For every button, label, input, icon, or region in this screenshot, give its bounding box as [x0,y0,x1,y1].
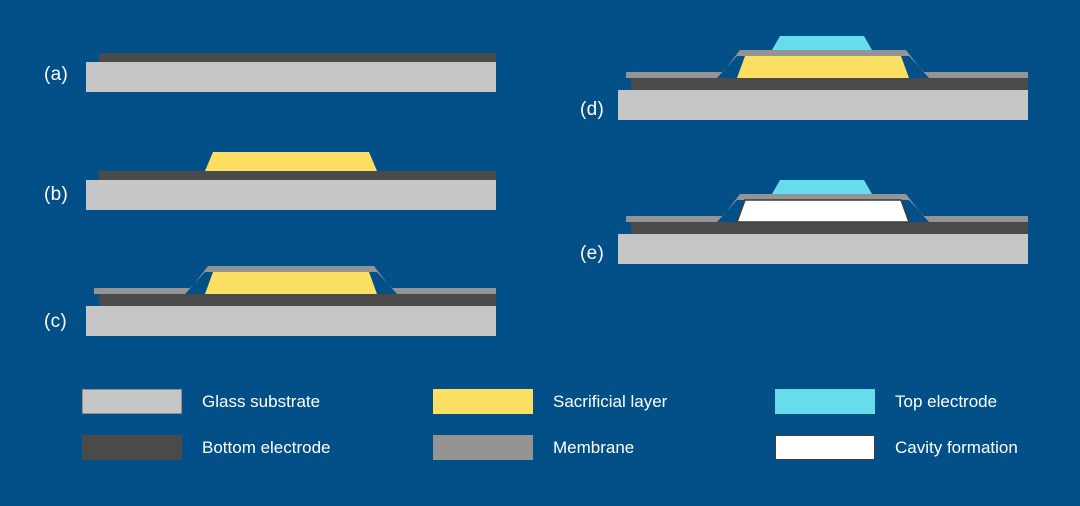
legend-swatch-top-electrode [775,389,875,414]
legend-item-sacrificial-layer: Sacrificial layer [433,378,753,424]
panel-label-a: (a) [44,65,68,84]
process-flow-figure: (a)(b)(c)(d)(e) Glass substrateBottom el… [0,0,1080,506]
layer-top-electrode [772,36,872,50]
panel-label-d: (d) [580,100,604,119]
legend-column-3: Top electrodeCavity formation [775,378,1080,470]
legend-column-1: Glass substrateBottom electrode [82,378,402,470]
legend-label-top-electrode: Top electrode [895,393,997,410]
legend-swatch-membrane [433,435,533,460]
panel-label-c: (c) [44,312,67,331]
cross-section-d [612,30,1042,125]
legend-item-top-electrode: Top electrode [775,378,1080,424]
legend-item-membrane: Membrane [433,424,753,470]
cross-section-a [80,40,510,100]
legend-item-cavity-formation: Cavity formation [775,424,1080,470]
legend-swatch-cavity-formation [775,435,875,460]
layer-bottom-electrode [99,171,496,180]
cross-section-c [80,258,510,336]
legend-column-2: Sacrificial layerMembrane [433,378,753,470]
legend-swatch-bottom-electrode [82,435,182,460]
layer-bottom-electrode [631,78,1028,90]
layer-cavity-formation [737,200,909,222]
layer-sacrificial-layer [205,272,377,294]
legend-item-glass-substrate: Glass substrate [82,378,402,424]
layer-glass-substrate [618,234,1028,264]
panel-label-e: (e) [580,244,604,263]
layer-bottom-electrode [99,53,496,62]
process-step-b [80,140,510,210]
legend-label-sacrificial-layer: Sacrificial layer [553,393,667,410]
cross-section-b [80,140,510,210]
panel-label-b: (b) [44,185,68,204]
layer-sacrificial-layer [737,56,909,78]
process-step-a [80,40,510,100]
legend-swatch-sacrificial-layer [433,389,533,414]
process-panels: (a)(b)(c)(d)(e) [0,0,1080,370]
process-step-e [612,178,1042,268]
layer-sacrificial-layer [205,152,377,171]
legend: Glass substrateBottom electrodeSacrifici… [0,378,1080,488]
legend-label-bottom-electrode: Bottom electrode [202,439,331,456]
layer-glass-substrate [86,62,496,92]
process-step-d [612,30,1042,125]
legend-label-cavity-formation: Cavity formation [895,439,1018,456]
layer-bottom-electrode [631,222,1028,234]
legend-label-glass-substrate: Glass substrate [202,393,320,410]
legend-swatch-glass-substrate [82,389,182,414]
layer-glass-substrate [86,306,496,336]
layer-top-electrode [772,180,872,194]
cross-section-e [612,178,1042,268]
layer-bottom-electrode [99,294,496,306]
legend-item-bottom-electrode: Bottom electrode [82,424,402,470]
process-step-c [80,258,510,336]
legend-label-membrane: Membrane [553,439,634,456]
layer-glass-substrate [618,90,1028,120]
layer-glass-substrate [86,180,496,210]
